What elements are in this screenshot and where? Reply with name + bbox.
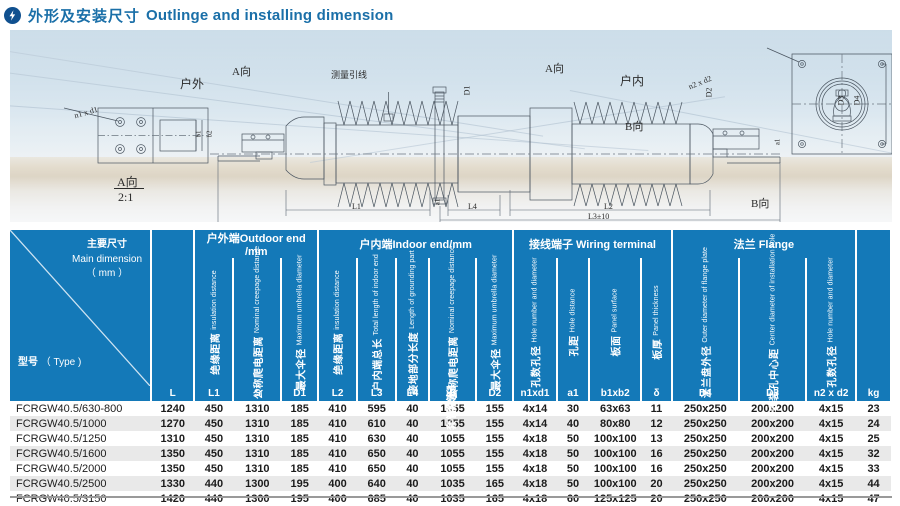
- col-head-en: Hole number and diameter: [532, 257, 539, 342]
- col-head-cn: 孔数孔径: [528, 345, 543, 387]
- col-header-D3: 安装孔中心距 Center diameter of installation h…: [739, 258, 806, 386]
- label-view-b-right: B向: [625, 118, 643, 134]
- group-header-casing-weight: 套管重量 Caing weight: [856, 230, 891, 386]
- col-head-cn: 最大伞径: [292, 348, 307, 390]
- label-indoor: 户内: [620, 72, 644, 89]
- measuring-lead-stud: [433, 87, 446, 204]
- dimension-lines: [218, 161, 780, 222]
- col-head-cn: 接地部分长度: [405, 331, 420, 394]
- col-head-en: insulation distance: [334, 270, 341, 330]
- col-head-cn: 公称爬电距离: [250, 336, 265, 399]
- page-title-bar: 外形及安装尺寸 Outlinge and installing dimensio…: [0, 0, 900, 30]
- dim-label-a1-right: a1: [773, 139, 781, 146]
- col-head-en: Center diameter of installation hole: [769, 233, 776, 345]
- dim-label-D3: D3: [836, 96, 845, 106]
- col-header-L2: 绝缘距离 insulation distance: [318, 258, 357, 386]
- drawing-panel: 户外 户内 A向 A向 B向 B向 测量引线 n1 x d1 n2 x d2 A…: [10, 30, 892, 222]
- dim-label-L3: L3±10: [588, 212, 609, 221]
- outdoor-insulator-body: [286, 117, 458, 185]
- col-head-cn: 板面: [608, 335, 623, 356]
- specification-table: 主要尺寸 Main dimension （ mm ） 型号 （ Type ) 套…: [10, 230, 892, 506]
- col-header-n1xd1: 孔数孔径 Hole number and diameter: [513, 258, 556, 386]
- detail-scale-rule: [114, 188, 144, 189]
- view-b-flange: [767, 48, 892, 154]
- col-header-delta: 板厚 Panel thickness: [641, 258, 671, 386]
- dim-label-L2: L2: [604, 202, 613, 211]
- label-measuring-lead: 测量引线: [331, 68, 367, 81]
- page-title-en: Outlinge and installing dimension: [146, 7, 393, 24]
- col-header-D2: 最大伞径 Maximum umbrella diameter: [476, 258, 513, 386]
- col-head-cn: 孔距: [565, 335, 580, 356]
- col-head-cn: 公称爬电距离: [445, 336, 460, 399]
- col-header-L3: 户内端总长 Total length of indoor end: [357, 258, 396, 386]
- col-header-L4: 接地部分长度 Length of grounding part: [396, 258, 429, 386]
- dim-label-D2: D2: [704, 88, 713, 98]
- col-head-en: Total length of indoor end: [373, 254, 380, 335]
- dim-label-b1: b1: [195, 131, 203, 138]
- col-head-en: Nominal creepage distance: [254, 245, 261, 332]
- col-header-b1xb2: 板面 Panel surface: [589, 258, 641, 386]
- col-head-en: Hole distance: [569, 288, 576, 332]
- label-view-a-right: A向: [545, 60, 564, 76]
- col-head-cn: 安装孔中心距: [765, 348, 780, 411]
- col-header-S-outdoor: 公称爬电距离 Nominal creepage distance: [233, 258, 281, 386]
- label-outdoor: 户外: [180, 75, 204, 92]
- col-head-en: insulation distance: [210, 270, 217, 330]
- indoor-terminal: [713, 129, 780, 163]
- outdoor-terminal: [218, 134, 284, 161]
- col-head-cn: 户内端总长: [369, 338, 384, 391]
- page-title-cn: 外形及安装尺寸: [28, 5, 140, 26]
- col-head-en: Panel surface: [612, 288, 619, 332]
- dim-label-D4: D4: [852, 96, 861, 106]
- col-head-cn: 板厚: [649, 338, 664, 359]
- col-head-en: Length of grounding part: [409, 250, 416, 329]
- col-head-cn: 绝缘距离: [206, 332, 221, 374]
- col-head-cn: 法兰盘外径: [698, 345, 713, 398]
- label-view-a-scale: 2:1: [118, 190, 133, 205]
- col-header-D1: 最大伞径 Maximum umbrella diameter: [281, 258, 318, 386]
- dim-label-L4: L4: [468, 202, 477, 211]
- col-head-en: Maximum umbrella diameter: [296, 254, 303, 345]
- table-bottom-rule: [10, 496, 892, 498]
- col-header-S-indoor: 公称爬电距离 Nominal creepage distance: [429, 258, 477, 386]
- col-head-cn: 最大伞径: [487, 348, 502, 390]
- dim-label-a1: a1: [433, 199, 441, 206]
- dim-label-L1: L1: [352, 202, 361, 211]
- center-flange-section: [384, 92, 572, 200]
- col-head-en: Nominal creepage distance: [449, 245, 456, 332]
- dim-label-b2: b2: [206, 131, 214, 138]
- label-view-a-left: A向: [232, 63, 251, 79]
- dim-label-D1: D1: [462, 86, 471, 96]
- col-header-a1: 孔距 Hole distance: [557, 258, 590, 386]
- col-head-en: Panel thickness: [653, 285, 660, 336]
- label-view-b-bottom: B向: [751, 195, 769, 211]
- col-head-en: Outer diameter of flange plate: [702, 246, 709, 342]
- col-head-cn: 孔数孔径: [824, 345, 839, 387]
- col-head-en: Maximum umbrella diameter: [491, 254, 498, 345]
- technical-drawing: [10, 30, 892, 222]
- col-header-L1: 绝缘距离 insulation distance: [194, 258, 233, 386]
- bolt-badge-icon: [4, 7, 21, 24]
- col-head-cn: 绝缘距离: [330, 332, 345, 374]
- col-header-D4: 法兰盘外径 Outer diameter of flange plate: [672, 258, 739, 386]
- col-header-n2xd2: 孔数孔径 Hole number and diameter: [806, 258, 856, 386]
- symbol-row-corner: [10, 386, 151, 401]
- datasheet-page: 外形及安装尺寸 Outlinge and installing dimensio…: [0, 0, 900, 503]
- col-head-en: Hole number and diameter: [828, 257, 835, 342]
